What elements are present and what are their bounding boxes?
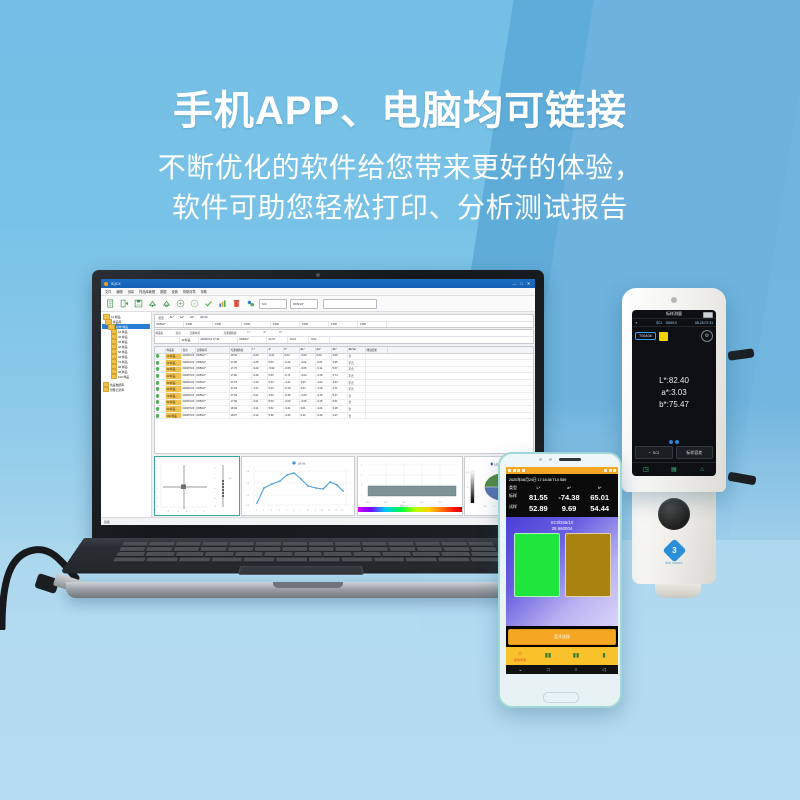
sys-nav-home[interactable]: ○	[574, 667, 577, 673]
table-cell: 3.01	[300, 406, 316, 412]
palette-icon[interactable]: ◳	[632, 463, 660, 476]
svg-text:3: 3	[271, 510, 273, 512]
sys-nav-collapse[interactable]: ⌄	[518, 667, 522, 673]
table-cell: -3.22	[252, 367, 268, 373]
table-cell: -3.15	[316, 393, 332, 399]
table-column-header[interactable]: L*	[252, 347, 268, 353]
table-cell: -3.12	[252, 413, 268, 419]
table-cell: 3.04	[300, 386, 316, 392]
table-cell: 0.04	[284, 354, 300, 360]
standard-row-panel: 样品名显示日期时间光源观察者L*a*b* 1# 样品2020/7/24 17:4…	[154, 329, 534, 344]
leaf-icon	[156, 400, 159, 404]
book-icon[interactable]: ▤	[660, 463, 688, 476]
sys-nav-recents[interactable]: □	[547, 667, 550, 673]
status-right-icons	[604, 469, 616, 472]
table-cell: -0.60	[284, 400, 300, 406]
table-column-header[interactable]: 样品名	[166, 347, 182, 353]
laptop-keyboard[interactable]	[109, 542, 507, 569]
table-cell: 3.74	[332, 373, 348, 379]
tree-footer-label: 测量记录库	[110, 388, 124, 392]
bluetooth-icon: ✶	[635, 321, 638, 325]
col-a-header: a*	[554, 485, 585, 491]
phone-color-compare-area: SCI/D65/10 28.660004	[506, 517, 618, 626]
standard-config-label: Δa*	[177, 316, 187, 320]
device-brand-logo: 3 3nh colour	[660, 542, 688, 565]
svg-text:6: 6	[293, 510, 295, 512]
table-cell: 18.04	[230, 406, 252, 412]
table-cell: 4.50	[268, 393, 284, 399]
spectral-reflectance-chart[interactable]: 4321 400450500 600700 波长/nm	[357, 456, 463, 516]
software-toolbar: SCI D65/10°	[101, 296, 535, 312]
device-sci-button[interactable]: ◔ SCI	[635, 446, 673, 459]
standard-row-cell: 1# 样品	[180, 337, 199, 343]
table-cell: D65/10°	[196, 393, 230, 399]
svg-text:0: 0	[186, 511, 188, 513]
battery-icon	[703, 312, 713, 318]
colorimeter-device: 3 3nh colour 标样测量 ✶ SCI D65/10 08-25 07	[618, 288, 738, 608]
window-minimize-button[interactable]: —	[511, 279, 518, 288]
standard-config-label: 配置	[156, 316, 167, 320]
table-row[interactable]: 5# 样品2020/7/24 6:34:41D65/10°17.57-3.195…	[155, 380, 533, 387]
standard-row-header: L*	[248, 331, 264, 335]
device-sci-label: SCI	[653, 450, 660, 455]
svg-text:0: 0	[214, 488, 216, 490]
table-cell: -3.05	[300, 367, 316, 373]
table-cell: 5.00	[268, 360, 284, 366]
svg-text:100: 100	[466, 471, 468, 473]
sample-data-table[interactable]: 样品名显示日期时间光源观察者L*a*b*ΔL*Δa*Δb*ΔE*ab测试结果 1…	[154, 346, 534, 455]
sample-icon[interactable]	[161, 298, 172, 309]
table-cell: 18.42	[230, 354, 252, 360]
standard-row-cell: 2020/7/24 17:44	[199, 337, 238, 343]
tree-footer-record-db[interactable]: 测量记录库	[102, 387, 150, 392]
table-cell: -3.03	[300, 393, 316, 399]
table-cell: 5.38	[268, 413, 284, 419]
table-cell: 5# 样品	[166, 380, 182, 386]
table-cell: 4.47	[332, 413, 348, 419]
table-cell: 合	[348, 413, 366, 419]
laptop-open-notch	[273, 582, 343, 588]
chart-icon[interactable]	[217, 298, 228, 309]
standard-config-label: ΔL*	[167, 316, 177, 320]
table-cell: 3.18	[332, 406, 348, 412]
row-indicator[interactable]	[155, 373, 166, 379]
table-cell: D65/10°	[196, 400, 230, 406]
svg-text:700: 700	[438, 502, 442, 504]
battery-icon	[613, 469, 616, 472]
device-tolerance-button[interactable]: 标样容差	[676, 446, 714, 459]
sample-color-swatch[interactable]	[565, 533, 611, 597]
leaf-icon	[156, 354, 159, 358]
open-file-icon[interactable]	[119, 298, 130, 309]
tree-child-label: 10# 样品	[118, 375, 129, 379]
table-cell: 17.64	[230, 393, 252, 399]
row-sample-L: 52.89	[523, 504, 554, 513]
standard-row-header: 日期时间	[190, 331, 224, 335]
svg-text:0: 0	[156, 488, 158, 490]
compare-icon: ▮▮	[545, 653, 552, 659]
status-text: 就绪	[104, 520, 110, 524]
table-cell: -3.19	[252, 380, 268, 386]
svg-text:2: 2	[203, 511, 205, 513]
table-cell: -3.21	[316, 406, 332, 412]
spectrum-gradient-bar	[358, 507, 462, 512]
standard-row-header: 样品名	[156, 331, 176, 335]
window-maximize-button[interactable]: □	[518, 279, 525, 288]
svg-text:0.4: 0.4	[246, 505, 250, 507]
check-icon[interactable]	[203, 298, 214, 309]
svg-text:600: 600	[420, 502, 424, 504]
front-camera-icon	[539, 458, 542, 461]
svg-text:2: 2	[263, 510, 265, 512]
table-column-header[interactable]: 显示	[182, 347, 196, 353]
sample-tree-panel: 1# 样品 样品库 标样 样品 1# 样品2# 样品3# 样品4# 样品5# 样…	[101, 312, 152, 517]
standard-color-swatch[interactable]	[514, 533, 560, 597]
table-row[interactable]: 8# 样品2020/7/24 6:40:02D65/10°17.66-3.215…	[155, 400, 533, 407]
standard-row-header: a*	[264, 331, 280, 335]
table-cell: 不合	[348, 373, 366, 379]
standard-row-cell: 34.37	[267, 337, 288, 343]
row-indicator[interactable]	[155, 413, 166, 419]
table-column-header[interactable]: Δb*	[332, 347, 348, 353]
device-clock: 08-25 07:31	[695, 321, 713, 325]
table-cell: 不合	[348, 386, 366, 392]
menu-item-settings[interactable]: 设置	[171, 289, 177, 294]
webcam-icon	[316, 273, 320, 277]
table-row[interactable]: 1# 样品2020/7/24 6:26:08D65/10°18.42-3.23-…	[155, 354, 533, 361]
svg-text:7: 7	[300, 510, 302, 512]
table-column-header[interactable]: 光源观察者	[230, 347, 252, 353]
device-upper-housing: 标样测量 ✶ SCI D65/10 08-25 07:31 T00A08 ⚙	[622, 288, 726, 492]
svg-text:2.8: 2.8	[246, 471, 250, 473]
nav-item-profile[interactable]: ▮	[590, 647, 618, 665]
svg-text:50: 50	[467, 486, 469, 488]
row-standard-L: 81.55	[523, 493, 554, 502]
table-cell: 2020/7/24 5:45:16	[182, 406, 196, 412]
svg-text:11: 11	[328, 510, 331, 512]
table-cell: D65/10°	[196, 386, 230, 392]
table-cell: -4.24	[316, 380, 332, 386]
table-row[interactable]: 3# 样品2020/7/24 6:29:05D65/10°17.72-3.22-…	[155, 367, 533, 374]
standard-config-value: 1.000	[242, 322, 271, 327]
phone-home-button[interactable]	[543, 692, 579, 703]
device-tolerance-label: 标样容差	[686, 450, 702, 456]
svg-text:450: 450	[384, 502, 388, 504]
delta-e-trend-chart[interactable]: ΔE*ab	[241, 456, 355, 516]
table-column-header[interactable]: ΔE*ab	[348, 347, 366, 353]
row-indicator[interactable]	[155, 367, 166, 373]
svg-text:12: 12	[335, 510, 338, 512]
svg-text:2: 2	[156, 468, 158, 470]
table-cell: 5.44	[268, 380, 284, 386]
table-row[interactable]: 4# 样品2020/7/24 6:30:48D65/10°17.60-3.435…	[155, 373, 533, 380]
wifi-icon	[513, 469, 516, 472]
menu-item-wizard[interactable]: 帮助向导	[183, 289, 196, 294]
tree-child-label: 7# 样品	[118, 360, 127, 364]
standard-config-panel: 配置ΔL*Δa*Δb*ΔE*ab D65/10°1.0001.0001.0001…	[154, 314, 534, 328]
window-close-button[interactable]: ✕	[525, 279, 532, 288]
nav-item-list[interactable]: ▮▮	[562, 647, 590, 665]
smartphone: 2020年08月24日 17:16:38 T14 S89 类型 L* a* b*…	[498, 452, 622, 708]
illuminant-select[interactable]: D65/10°	[290, 299, 318, 309]
tree-group-label: 样品库	[113, 320, 121, 324]
tree-child-label: 9# 样品	[118, 370, 127, 374]
phone-swatch-pair	[509, 533, 615, 597]
table-column-header[interactable]: ΔL*	[300, 347, 316, 353]
table-cell: 合	[348, 354, 366, 360]
leaf-icon	[156, 361, 159, 365]
software-menu-bar: 文件 编辑 测量 样品库管理 数据 设置 帮助向导 帮助	[101, 288, 535, 296]
table-cell: 2020/7/24 5:43:42	[182, 413, 196, 419]
table-cell: D65/10°	[196, 360, 230, 366]
svg-text:1: 1	[256, 510, 258, 512]
table-row[interactable]: 2# 样品2020/7/24 6:27:42D65/10°17.66-3.255…	[155, 360, 533, 367]
device-action-buttons: ◔ SCI 标样容差	[632, 446, 716, 462]
table-cell: 4.44	[332, 380, 348, 386]
table-select-header	[155, 347, 166, 353]
laptop-trackpad[interactable]	[238, 566, 363, 575]
table-cell: 4# 样品	[166, 373, 182, 379]
message-icon	[522, 469, 525, 472]
device-screen-title-bar: 标样测量	[632, 310, 716, 319]
charts-row: 210 -1-2 -2-10 12 210 -1-2 ΔL	[154, 456, 534, 516]
search-input[interactable]	[323, 299, 377, 309]
table-cell: 5.67	[332, 367, 348, 373]
leaf-icon	[156, 394, 159, 398]
standard-row-cell	[155, 337, 180, 343]
row-indicator[interactable]	[155, 380, 166, 386]
table-cell: 5.00	[268, 373, 284, 379]
svg-text:-2: -2	[214, 506, 217, 508]
signal-icon	[508, 469, 511, 472]
software-status-bar: 就绪	[101, 517, 535, 525]
table-cell: 合	[348, 393, 366, 399]
standard-config-labels: 配置ΔL*Δa*Δb*ΔE*ab	[155, 315, 533, 322]
device-lab-values: L*:82.40 a*:3.03 b*:75.47	[632, 345, 716, 440]
table-cell: 3.33	[300, 380, 316, 386]
delete-icon[interactable]	[231, 298, 242, 309]
table-cell: -5.52	[268, 367, 284, 373]
table-cell: 3.10	[300, 413, 316, 419]
ab-chromaticity-chart[interactable]: 210 -1-2 -2-10 12 210 -1-2 ΔL	[154, 456, 240, 516]
svg-text:3: 3	[361, 475, 363, 477]
table-cell: D65/10°	[196, 367, 230, 373]
save-icon[interactable]	[133, 298, 144, 309]
table-cell: 2# 样品	[166, 360, 182, 366]
table-cell: 1# 样品	[166, 354, 182, 360]
tree-child-label: 3# 样品	[118, 340, 127, 344]
table-cell: 17.66	[230, 360, 252, 366]
row-indicator[interactable]	[155, 360, 166, 366]
add-icon[interactable]	[175, 298, 186, 309]
tree-child-label: 2# 样品	[118, 335, 127, 339]
row-indicator[interactable]	[155, 400, 166, 406]
table-cell: -6.11	[316, 367, 332, 373]
table-column-header[interactable]: 测试结果	[366, 347, 388, 353]
leaf-icon	[156, 414, 159, 418]
svg-text:400: 400	[366, 502, 370, 504]
svg-text:-100: -100	[483, 505, 486, 507]
settings-icon[interactable]	[245, 298, 256, 309]
device-measure-button[interactable]	[658, 498, 690, 530]
table-cell: 2020/7/24 6:34:41	[182, 380, 196, 386]
svg-text:9: 9	[315, 510, 317, 512]
software-main-area: 配置ΔL*Δa*Δb*ΔE*ab D65/10°1.0001.0001.0001…	[152, 312, 535, 517]
table-cell: 18.07	[230, 413, 252, 419]
device-status-row: ✶ SCI D65/10 08-25 07:31	[632, 319, 716, 327]
poster-stage: 手机APP、电脑均可链接 不断优化的软件给您带来更好的体验， 软件可助您轻松打印…	[0, 0, 800, 800]
laptop: SQCX — □ ✕ 文件 编辑 测量 样品库管理 数据 设置 帮	[58, 270, 558, 630]
row-indicator[interactable]	[155, 354, 166, 360]
row-indicator[interactable]	[155, 406, 166, 412]
table-cell: 合	[348, 406, 366, 412]
table-cell: 3# 样品	[166, 367, 182, 373]
leaf-icon	[156, 387, 159, 391]
table-cell: -3.25	[252, 360, 268, 366]
tree-child-label: 4# 样品	[118, 345, 127, 349]
status-left-icons	[508, 469, 525, 472]
device-screen-title: 标样测量	[666, 311, 682, 317]
row-standard-label: 标样	[509, 493, 523, 502]
table-cell: D65/10°	[196, 354, 230, 360]
software-body: 1# 样品 样品库 标样 样品 1# 样品2# 样品3# 样品4# 样品5# 样…	[101, 312, 535, 517]
standard-row-values[interactable]: 1# 样品2020/7/24 17:44D65/10°34.3714.16-5.…	[155, 337, 533, 343]
table-cell: 6.61	[332, 400, 348, 406]
table-column-header[interactable]: b*	[284, 347, 300, 353]
standard-config-value: 1.000	[213, 322, 242, 327]
nav-item-compare[interactable]: ▮▮	[534, 647, 562, 665]
table-cell: 2020/7/24 6:40:02	[182, 400, 196, 406]
observer-select[interactable]: SCI	[259, 299, 287, 309]
table-cell: 17.72	[230, 367, 252, 373]
row-indicator[interactable]	[155, 386, 166, 392]
svg-text:-1: -1	[214, 498, 217, 500]
nav-item-home[interactable]: ⌂ 颜色专家	[506, 647, 534, 665]
standard-icon[interactable]	[147, 298, 158, 309]
table-cell: 5.00	[268, 400, 284, 406]
standard-config-value: 1.000	[184, 322, 213, 327]
trend-legend-label: ΔE*ab	[298, 461, 306, 465]
row-indicator[interactable]	[155, 393, 166, 399]
bluetooth-icon	[604, 469, 607, 472]
table-cell: 4.71	[332, 386, 348, 392]
menu-item-edit[interactable]: 编辑	[116, 289, 122, 294]
app-icon	[104, 282, 108, 286]
table-cell: 2020/7/24 6:27:42	[182, 360, 196, 366]
table-row[interactable]: 9# 样品2020/7/24 5:45:16D65/10°18.04-3.115…	[155, 406, 533, 413]
row-sample-a: 9.69	[554, 504, 585, 513]
standard-config-value: 1.000	[271, 322, 300, 327]
menu-item-data[interactable]: 数据	[160, 289, 166, 294]
svg-text:2: 2	[214, 468, 216, 470]
standard-config-value: 1.000	[300, 322, 329, 327]
table-cell: 17.60	[230, 373, 252, 379]
standard-row-cell: D65/10°	[238, 337, 267, 343]
standard-config-label: ΔE*ab	[197, 316, 210, 320]
measurement-grid: 类型 L* a* b* 标样 81.55 -74.38 65.01 试样 52.…	[509, 485, 615, 513]
row-sample-label: 试样	[509, 504, 523, 513]
svg-text:500: 500	[402, 502, 406, 504]
device-status-illuminant: D65/10	[666, 321, 677, 325]
table-cell: -3.46	[316, 413, 332, 419]
sys-nav-back[interactable]: ◁	[602, 667, 606, 673]
brand-mark-text: 3	[672, 546, 676, 555]
bluetooth-connect-button[interactable]: 蓝牙连接	[508, 629, 616, 645]
table-cell: 7# 样品	[166, 393, 182, 399]
app-badge-icon	[517, 469, 520, 472]
table-cell: -3.23	[252, 354, 268, 360]
table-row[interactable]: 6# 样品2020/7/24 6:36:24D65/10°17.64-3.175…	[155, 386, 533, 393]
home-icon: ⌂	[518, 651, 522, 657]
table-header-row: 样品名显示日期时间光源观察者L*a*b*ΔL*Δa*Δb*ΔE*ab测试结果	[155, 347, 533, 354]
table-column-header[interactable]: 日期时间	[196, 347, 230, 353]
menu-item-measure[interactable]: 测量	[128, 289, 134, 294]
table-cell: -3.40	[284, 413, 300, 419]
sample-code-badge[interactable]: T00A08	[635, 332, 656, 340]
svg-text:4: 4	[279, 510, 281, 512]
table-cell: 17.57	[230, 380, 252, 386]
standard-config-value: 1.000	[358, 322, 387, 327]
table-cell: 3.05	[332, 354, 348, 360]
table-cell: 不合	[348, 380, 366, 386]
device-value-L: L*:82.40	[659, 376, 689, 385]
measure-icon[interactable]	[189, 298, 200, 309]
device-screen: 标样测量 ✶ SCI D65/10 08-25 07:31 T00A08 ⚙	[632, 310, 716, 476]
table-cell: -3.02	[300, 360, 316, 366]
phone-measurement-table: 2020年08月24日 17:16:38 T14 S89 类型 L* a* b*…	[506, 474, 618, 517]
svg-text:-50: -50	[493, 505, 495, 507]
menu-item-file[interactable]: 文件	[105, 289, 111, 294]
gear-icon[interactable]: ⚙	[701, 330, 713, 342]
table-column-header[interactable]: Δa*	[316, 347, 332, 353]
table-cell: D65/10°	[196, 380, 230, 386]
table-cell: -0.65	[284, 367, 300, 373]
color-software-window: SQCX — □ ✕ 文件 编辑 测量 样品库管理 数据 设置 帮	[101, 279, 535, 525]
table-cell: -3.43	[252, 373, 268, 379]
tree-child-node[interactable]: 10# 样品	[102, 374, 150, 379]
svg-text:10: 10	[321, 510, 324, 512]
table-cell: 2020/7/24 6:29:05	[182, 367, 196, 373]
table-row[interactable]: 7# 样品2020/7/24 6:38:10D65/10°17.64-3.214…	[155, 393, 533, 400]
table-column-header[interactable]: a*	[268, 347, 284, 353]
table-cell: -0.71	[284, 373, 300, 379]
phone-status-bar	[506, 467, 618, 474]
home-icon[interactable]: ⌂	[688, 463, 716, 476]
laptop-base	[58, 538, 558, 608]
col-type-header: 类型	[509, 485, 523, 491]
device-value-b: b*:75.47	[659, 400, 689, 409]
table-cell: 8# 样品	[166, 400, 182, 406]
table-cell: 不合	[348, 367, 366, 373]
table-cell: -3.41	[284, 406, 300, 412]
leaf-icon	[156, 407, 159, 411]
svg-text:-1: -1	[177, 511, 180, 513]
menu-item-help[interactable]: 帮助	[201, 289, 207, 294]
table-cell: -6.21	[268, 354, 284, 360]
tree-selected-label: 标样 样品	[116, 325, 128, 329]
svg-text:ΔL: ΔL	[229, 477, 232, 480]
table-cell: -0.44	[284, 360, 300, 366]
menu-item-sample-library[interactable]: 样品库管理	[139, 289, 155, 294]
table-cell: 17.64	[230, 386, 252, 392]
row-standard-b: 65.01	[584, 493, 615, 502]
folder-icon	[103, 387, 109, 392]
phone-delta-value: 28.660004	[552, 526, 573, 532]
svg-text:1: 1	[156, 478, 158, 480]
table-cell: -0.45	[284, 393, 300, 399]
new-file-icon[interactable]	[105, 298, 116, 309]
table-row[interactable]: 10# 样品2020/7/24 5:43:42D65/10°18.07-3.12…	[155, 413, 533, 420]
